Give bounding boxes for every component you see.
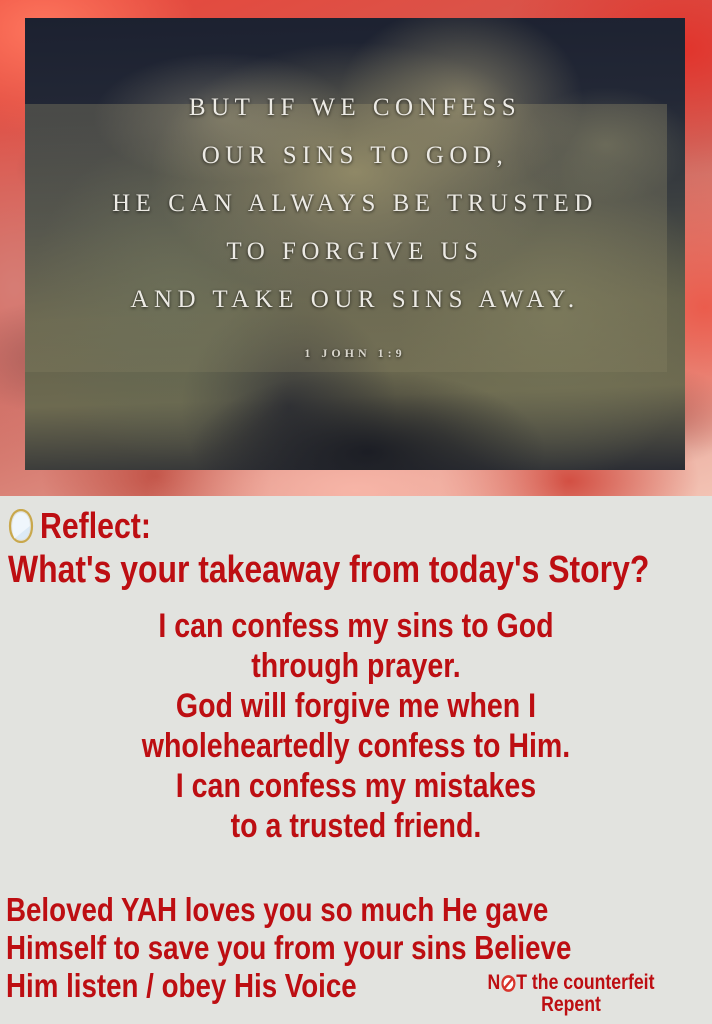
takeaway-line: wholeheartedly confess to Him. xyxy=(57,726,655,766)
reflect-heading-row: Reflect: xyxy=(8,508,172,544)
reflect-question: What's your takeaway from today's Story? xyxy=(8,550,596,590)
badge-line-2: Repent xyxy=(483,994,659,1016)
takeaway-line: God will forgive me when I xyxy=(57,686,655,726)
takeaway-list: I can confess my sins to God through pra… xyxy=(0,606,712,846)
verse-line-5: AND TAKE OUR SINS AWAY. xyxy=(25,276,685,324)
verse-line-2: OUR SINS TO GOD, xyxy=(25,132,685,180)
not-the-counterfeit-badge: N T the counterfeit Repent xyxy=(466,972,676,1016)
badge-suffix: T the counterfeit xyxy=(516,972,654,994)
reflection-panel: Reflect: What's your takeaway from today… xyxy=(0,496,712,1024)
badge-prefix: N xyxy=(488,972,501,994)
closing-line: Himself to save you from your sins Belie… xyxy=(6,929,599,967)
verse-line-4: TO FORGIVE US xyxy=(25,228,685,276)
devotional-graphic: BUT IF WE CONFESS OUR SINS TO GOD, HE CA… xyxy=(0,0,712,1024)
closing-line: Beloved YAH loves you so much He gave xyxy=(6,891,599,929)
takeaway-line: I can confess my sins to God xyxy=(57,606,655,646)
takeaway-line: through prayer. xyxy=(57,646,655,686)
verse-text-block: BUT IF WE CONFESS OUR SINS TO GOD, HE CA… xyxy=(25,84,685,361)
reflect-label: Reflect: xyxy=(40,508,151,544)
takeaway-line: I can confess my mistakes xyxy=(57,766,655,806)
verse-line-3: HE CAN ALWAYS BE TRUSTED xyxy=(25,180,685,228)
verse-reference: 1 JOHN 1:9 xyxy=(25,346,685,361)
mirror-icon xyxy=(8,509,34,543)
prohibition-icon xyxy=(501,975,515,992)
verse-line-1: BUT IF WE CONFESS xyxy=(25,84,685,132)
takeaway-line: to a trusted friend. xyxy=(57,806,655,846)
badge-line-1: N T the counterfeit xyxy=(483,972,659,994)
verse-photo: BUT IF WE CONFESS OUR SINS TO GOD, HE CA… xyxy=(0,0,712,496)
